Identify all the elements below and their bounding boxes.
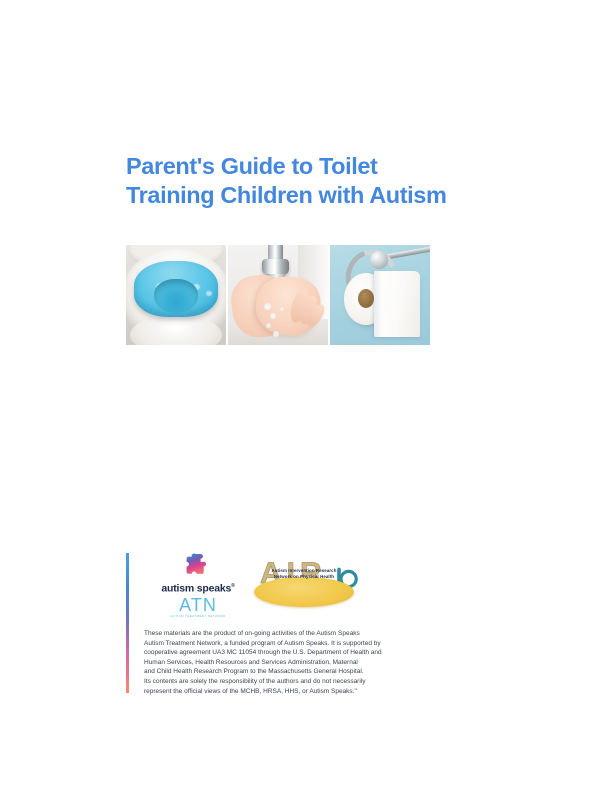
disclaimer-line: Human Services, Health Resources and Ser… bbox=[144, 658, 440, 668]
cover-photo-strip bbox=[126, 245, 430, 345]
logo-row: autism speaks® ATN AUTISM TREATMENT NETW… bbox=[144, 553, 444, 615]
disclaimer-line: and Child Health Research Program to the… bbox=[144, 667, 440, 677]
title-line-1: Parent's Guide to Toilet bbox=[126, 152, 546, 181]
disclaimer-line: Autism Treatment Network, a funded progr… bbox=[144, 639, 440, 649]
puzzle-piece-icon bbox=[185, 553, 211, 579]
photo-toilet-paper-roll-on-holder bbox=[330, 245, 430, 345]
water-droplet bbox=[273, 331, 279, 337]
water-droplet bbox=[264, 303, 271, 310]
star-decal bbox=[206, 291, 212, 296]
autism-speaks-atn-logo: autism speaks® ATN AUTISM TREATMENT NETW… bbox=[156, 553, 240, 618]
page-title: Parent's Guide to Toilet Training Childr… bbox=[126, 152, 546, 210]
training-seat bbox=[134, 261, 218, 317]
star-decal bbox=[156, 283, 165, 290]
photo-child-toilet-training-seat bbox=[126, 245, 226, 345]
air-p-caption-line-2: Network on Physical Health bbox=[274, 574, 334, 580]
autism-speaks-wordmark: autism speaks® bbox=[156, 581, 240, 595]
photo-washing-hands-under-faucet bbox=[228, 245, 328, 345]
roll-core bbox=[358, 289, 374, 308]
title-line-2: Training Children with Autism bbox=[126, 181, 546, 210]
faucet-head bbox=[262, 259, 289, 275]
holder-mount bbox=[370, 251, 388, 269]
hanging-sheet bbox=[374, 271, 420, 337]
document-page: Parent's Guide to Toilet Training Childr… bbox=[0, 0, 612, 792]
disclaimer-line: These materials are the product of on-go… bbox=[144, 629, 440, 639]
disclaimer-line: Its contents are solely the responsibili… bbox=[144, 677, 440, 687]
air-p-logo: AIR Autism Intervention Research Network… bbox=[254, 559, 374, 611]
air-p-ellipse-caption: Autism Intervention Research Network on … bbox=[254, 559, 354, 589]
registered-trademark-icon: ® bbox=[231, 583, 234, 589]
star-decal bbox=[174, 280, 181, 286]
gradient-accent-bar bbox=[126, 553, 129, 693]
water-droplet bbox=[280, 307, 284, 311]
star-decal bbox=[192, 284, 200, 290]
water-droplet bbox=[270, 313, 276, 319]
water-droplet bbox=[266, 323, 271, 328]
autism-speaks-text: autism speaks bbox=[161, 583, 231, 595]
funding-disclaimer: These materials are the product of on-go… bbox=[144, 629, 440, 696]
atn-caption: AUTISM TREATMENT NETWORK bbox=[156, 614, 240, 618]
disclaimer-line: represent the official views of the MCHB… bbox=[144, 687, 440, 697]
disclaimer-line: cooperative agreement UA3 MC 11054 throu… bbox=[144, 648, 440, 658]
atn-wordmark: ATN bbox=[156, 596, 240, 614]
